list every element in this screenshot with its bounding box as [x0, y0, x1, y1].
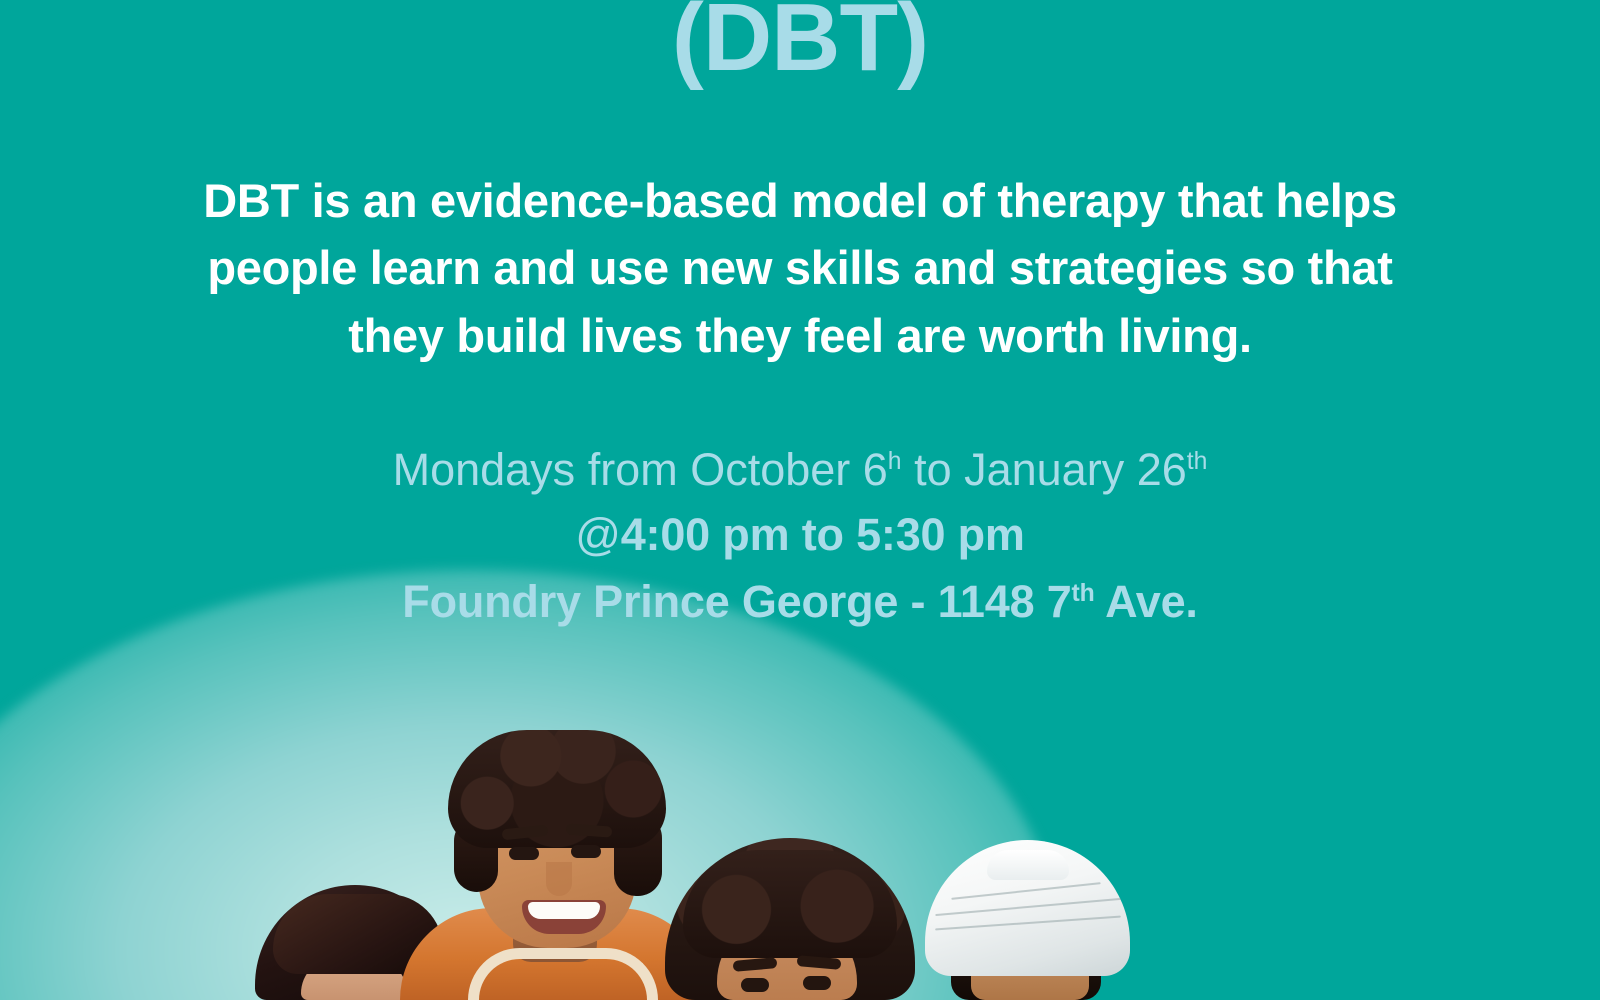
- person-white-turban: [925, 840, 1130, 1000]
- face-shape: [478, 763, 636, 948]
- turban-fold-3: [951, 882, 1100, 900]
- face-shape: [717, 914, 857, 1000]
- face-shape: [301, 958, 407, 1000]
- person-curly-hair-woman: [665, 838, 915, 1000]
- person-left-straight-hair: [255, 890, 455, 1000]
- eyebrow-left-shape: [502, 825, 549, 841]
- schedule-dates-ordinal-first: h: [888, 448, 902, 475]
- hair-side-right-shape: [614, 812, 662, 896]
- ear-left-shape: [468, 842, 490, 880]
- face-shape: [971, 956, 1089, 1000]
- schedule-dates-middle: to January 26: [902, 444, 1187, 495]
- turban-fold-2: [935, 898, 1120, 916]
- page-title: (DBT): [0, 0, 1600, 83]
- eye-left-shape: [509, 847, 539, 860]
- location-prefix: Foundry Prince George - 1148 7: [402, 576, 1071, 627]
- schedule-dates-ordinal-second: th: [1187, 448, 1208, 475]
- eye-left-shape: [741, 978, 769, 992]
- collar-shape: [468, 948, 658, 1000]
- fringe-shape: [273, 894, 443, 974]
- schedule-block: Mondays from October 6h to January 26th …: [0, 437, 1600, 635]
- turban-fold-1: [935, 916, 1121, 931]
- schedule-time-hours: 4:00 pm to 5:30 pm: [621, 509, 1025, 560]
- neck-shape: [513, 902, 597, 962]
- schedule-location-line: Foundry Prince George - 1148 7th Ave.: [0, 569, 1600, 636]
- turban-shape: [925, 840, 1130, 976]
- hair-side-left-shape: [454, 816, 498, 892]
- location-ordinal: th: [1072, 580, 1095, 607]
- location-suffix: Ave.: [1095, 576, 1198, 627]
- curly-hair-shape: [665, 838, 915, 1000]
- poster-content: (DBT) DBT is an evidence-based model of …: [0, 0, 1600, 635]
- schedule-time-line: @4:00 pm to 5:30 pm: [0, 502, 1600, 569]
- eyebrow-right-shape: [566, 823, 613, 837]
- fringe-shape: [683, 850, 897, 958]
- orange-jacket-shape: [400, 908, 710, 1000]
- curly-hair-shape: [448, 730, 666, 848]
- nose-shape: [546, 862, 572, 896]
- eyebrow-right-shape: [797, 955, 842, 970]
- smiling-mouth-shape: [522, 900, 606, 934]
- person-center-curly-hair-orange-jacket: [410, 730, 700, 1000]
- hair-shape: [255, 885, 455, 1000]
- schedule-dates-prefix: Mondays from October 6: [393, 444, 888, 495]
- schedule-dates-line: Mondays from October 6h to January 26th: [0, 437, 1600, 502]
- eye-right-shape: [571, 845, 601, 858]
- beard-shape: [951, 938, 1101, 1000]
- group-photo: [0, 670, 1600, 1000]
- at-symbol-icon: @: [575, 509, 620, 560]
- ear-right-shape: [625, 842, 647, 880]
- poster-canvas: (DBT) DBT is an evidence-based model of …: [0, 0, 1600, 1000]
- body-paragraph: DBT is an evidence-based model of therap…: [175, 167, 1425, 369]
- eyebrow-left-shape: [733, 957, 778, 972]
- turban-knot-shape: [987, 850, 1069, 880]
- teeth-shape: [528, 902, 600, 919]
- eye-right-shape: [803, 976, 831, 990]
